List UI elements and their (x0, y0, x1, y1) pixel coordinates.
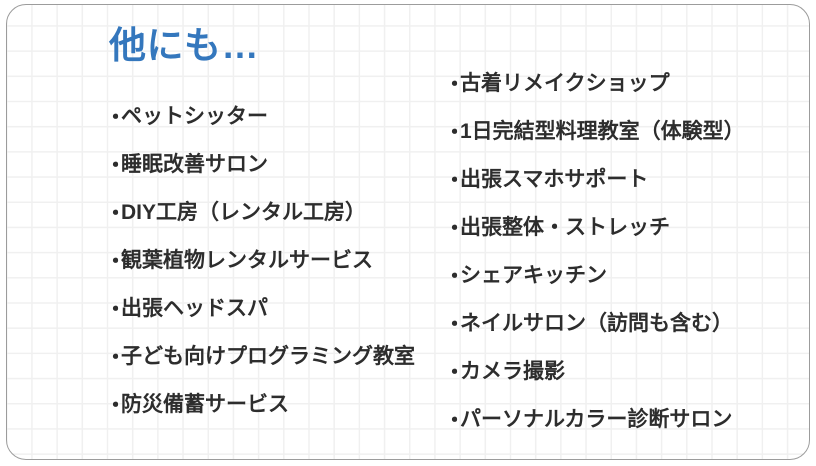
bullet-icon: ・ (444, 266, 460, 287)
slide-title: 他にも… (109, 27, 259, 64)
list-item-label: パーソナルカラー診断サロン (460, 396, 732, 444)
list-item: ・ 観葉植物レンタルサービス (105, 237, 435, 285)
list-item-label: 睡眠改善サロン (121, 141, 268, 189)
list-item: ・ カメラ撮影 (444, 348, 794, 396)
bullet-icon: ・ (105, 203, 121, 224)
bullet-icon: ・ (105, 107, 121, 128)
left-column-list: ・ ペットシッター ・ 睡眠改善サロン ・ DIY工房（レンタル工房） ・ 観葉… (105, 93, 435, 429)
list-item-label: 観葉植物レンタルサービス (121, 237, 373, 285)
right-column-list: ・ 古着リメイクショップ ・ 1日完結型料理教室（体験型） ・ 出張スマホサポー… (444, 60, 794, 444)
bullet-icon: ・ (444, 74, 460, 95)
list-item-label: シェアキッチン (460, 252, 607, 300)
list-item-label: 防災備蓄サービス (121, 381, 289, 429)
list-item-label: DIY工房（レンタル工房） (121, 189, 366, 237)
list-item-label: カメラ撮影 (460, 348, 565, 396)
list-item-label: 古着リメイクショップ (460, 60, 670, 108)
list-item-label: 出張整体・ストレッチ (460, 204, 670, 252)
list-item: ・ DIY工房（レンタル工房） (105, 189, 435, 237)
list-item-label: ネイルサロン（訪問も含む） (460, 300, 733, 348)
slide-canvas: 他にも… ・ ペットシッター ・ 睡眠改善サロン ・ DIY工房（レンタル工房） (0, 0, 816, 466)
bullet-icon: ・ (444, 122, 460, 143)
list-item: ・ 1日完結型料理教室（体験型） (444, 108, 794, 156)
list-item: ・ 防災備蓄サービス (105, 381, 435, 429)
bullet-icon: ・ (444, 170, 460, 191)
bullet-icon: ・ (105, 251, 121, 272)
list-item: ・ 出張ヘッドスパ (105, 285, 435, 333)
slide-card: 他にも… ・ ペットシッター ・ 睡眠改善サロン ・ DIY工房（レンタル工房） (6, 4, 810, 460)
bullet-icon: ・ (105, 299, 121, 320)
list-item-label: 1日完結型料理教室（体験型） (460, 108, 745, 156)
bullet-icon: ・ (444, 218, 460, 239)
bullet-icon: ・ (105, 155, 121, 176)
list-item-label: 出張ヘッドスパ (121, 285, 268, 333)
bullet-icon: ・ (105, 347, 121, 368)
list-item: ・ 子ども向けプログラミング教室 (105, 333, 435, 381)
bullet-icon: ・ (444, 362, 460, 383)
list-item: ・ 出張スマホサポート (444, 156, 794, 204)
list-item: ・ 古着リメイクショップ (444, 60, 794, 108)
list-item: ・ パーソナルカラー診断サロン (444, 396, 794, 444)
list-item: ・ シェアキッチン (444, 252, 794, 300)
list-item-label: ペットシッター (121, 93, 268, 141)
bullet-icon: ・ (444, 410, 460, 431)
list-item: ・ 出張整体・ストレッチ (444, 204, 794, 252)
list-item-label: 子ども向けプログラミング教室 (121, 333, 415, 381)
slide-content: 他にも… ・ ペットシッター ・ 睡眠改善サロン ・ DIY工房（レンタル工房） (7, 5, 809, 459)
list-item: ・ ペットシッター (105, 93, 435, 141)
bullet-icon: ・ (105, 395, 121, 416)
bullet-icon: ・ (444, 314, 460, 335)
list-item: ・ ネイルサロン（訪問も含む） (444, 300, 794, 348)
list-item-label: 出張スマホサポート (460, 156, 648, 204)
list-item: ・ 睡眠改善サロン (105, 141, 435, 189)
